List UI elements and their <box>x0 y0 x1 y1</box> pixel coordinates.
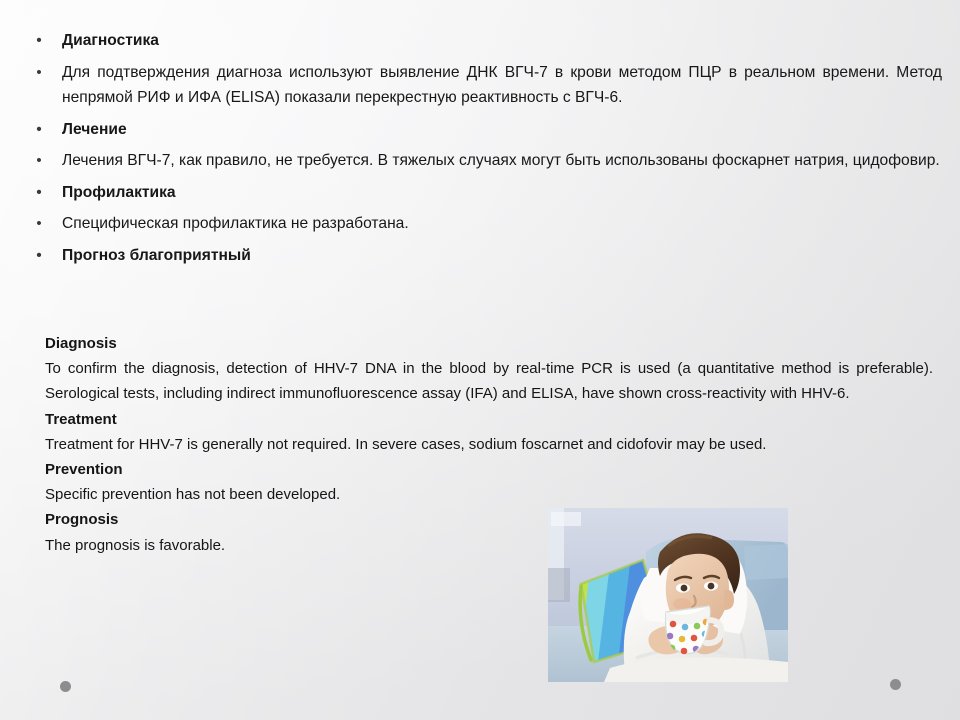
sick-child-photo <box>548 508 788 682</box>
english-translation-block: Diagnosis To confirm the diagnosis, dete… <box>45 331 933 558</box>
paragraph-prevention: Specific prevention has not been develop… <box>45 482 565 507</box>
paragraph-treatment: Treatment for HHV-7 is generally not req… <box>45 432 933 457</box>
bullet-text: Профилактика <box>62 180 942 206</box>
bullet-glyph-icon: • <box>32 211 46 237</box>
bullet-text: Диагностика <box>62 28 942 54</box>
bullet-glyph-icon: • <box>32 243 46 269</box>
bullet-glyph-icon: • <box>32 180 46 206</box>
heading-diagnosis: Diagnosis <box>45 331 933 356</box>
bullet-item-diagnostika: • Диагностика <box>22 28 942 54</box>
bullet-text: Для подтверждения диагноза используют вы… <box>62 60 942 111</box>
bullet-text: Лечения ВГЧ-7, как правило, не требуется… <box>62 148 942 174</box>
bullet-item-prognoz: • Прогноз благоприятный <box>22 243 942 269</box>
heading-prognosis: Prognosis <box>45 507 933 532</box>
bottom-left-dot-icon <box>60 681 71 692</box>
bullet-item-lechenie: • Лечение <box>22 117 942 143</box>
bullet-glyph-icon: • <box>32 117 46 143</box>
bullet-text: Лечение <box>62 117 942 143</box>
bullet-text: Специфическая профилактика не разработан… <box>62 211 942 237</box>
bullet-glyph-icon: • <box>32 60 46 86</box>
russian-bullet-list: • Диагностика • Для подтверждения диагно… <box>22 28 942 268</box>
paragraph-diagnosis: To confirm the diagnosis, detection of H… <box>45 356 933 406</box>
bullet-item-diagnostika-body: • Для подтверждения диагноза используют … <box>22 60 942 111</box>
heading-treatment: Treatment <box>45 407 933 432</box>
bullet-item-profilaktika: • Профилактика <box>22 180 942 206</box>
paragraph-prognosis: The prognosis is favorable. <box>45 533 565 558</box>
bullet-glyph-icon: • <box>32 28 46 54</box>
slide-canvas: • Диагностика • Для подтверждения диагно… <box>0 0 960 720</box>
bullet-text: Прогноз благоприятный <box>62 243 942 269</box>
bullet-item-lechenie-body: • Лечения ВГЧ-7, как правило, не требует… <box>22 148 942 174</box>
bottom-right-dot-icon <box>890 679 901 690</box>
heading-prevention: Prevention <box>45 457 933 482</box>
bullet-glyph-icon: • <box>32 148 46 174</box>
bullet-item-profilaktika-body: • Специфическая профилактика не разработ… <box>22 211 942 237</box>
